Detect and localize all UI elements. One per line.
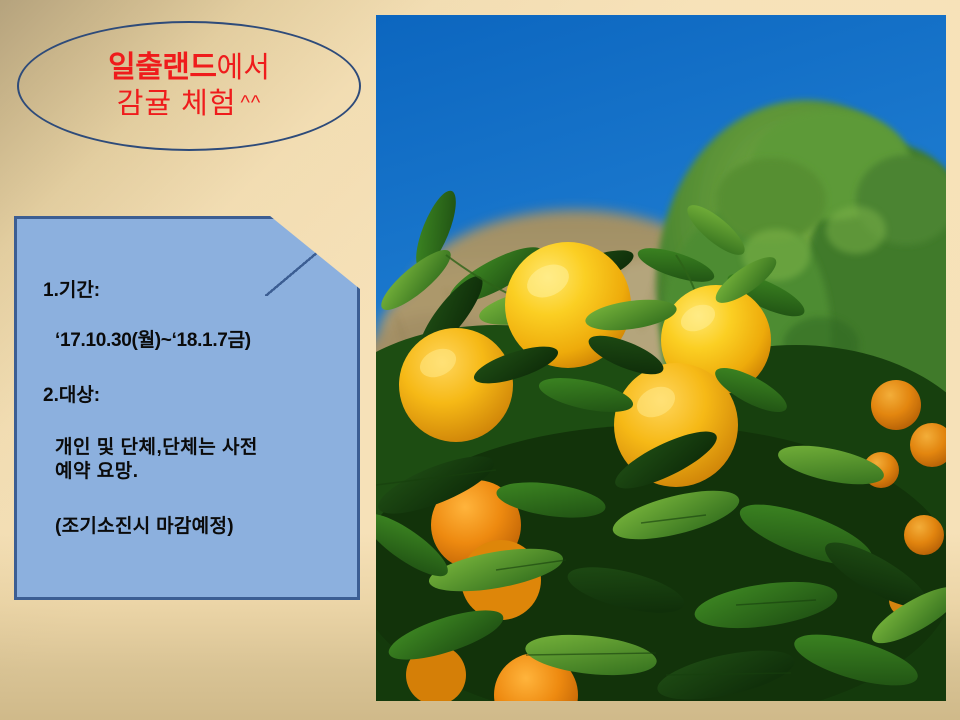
title-line-primary: 일출랜드에서 <box>108 53 270 83</box>
photo-illustration <box>376 15 946 701</box>
tangerine-orchard-photo <box>376 15 946 701</box>
title-suffix-text: 에서 <box>217 52 270 84</box>
title-ellipse: 일출랜드에서 감귤 체험^^ <box>17 21 361 151</box>
info-value-target-line2: 예약 요망. <box>55 460 341 484</box>
tangerine-left <box>399 328 513 442</box>
info-value-target-line1: 개인 및 단체,단체는 사전 <box>55 436 341 460</box>
info-note-closing: (조기소진시 마감예정) <box>55 515 341 539</box>
info-callout-box: 1.기간: ‘17.10.30(월)~‘18.1.7금) 2.대상: 개인 및 … <box>14 216 360 600</box>
title-brand-text: 일출랜드 <box>108 51 216 84</box>
title-activity-text: 감귤 체험 <box>117 88 237 120</box>
info-heading-period: 1.기간: <box>43 279 341 303</box>
title-line-secondary: 감귤 체험^^ <box>117 90 262 119</box>
smiley-emoticon-icon: ^^ <box>241 92 262 114</box>
info-heading-target: 2.대상: <box>43 384 341 408</box>
info-value-period: ‘17.10.30(월)~‘18.1.7금) <box>55 329 341 353</box>
slide-canvas: 일출랜드에서 감귤 체험^^ 1.기간: ‘17.10.30(월)~‘18.1.… <box>0 0 960 720</box>
